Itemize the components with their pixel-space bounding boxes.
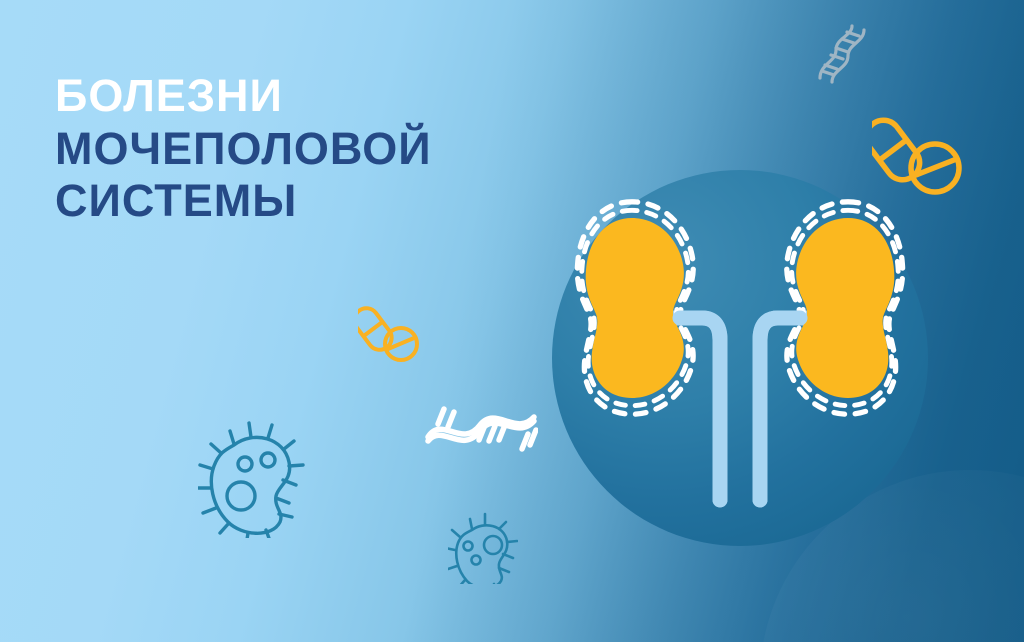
pills-icon [358, 298, 420, 364]
page-title: БОЛЕЗНИ МОЧЕПОЛОВОЙ СИСТЕМЫ [55, 74, 432, 223]
dna-helix-icon [814, 24, 870, 84]
dna-helix-icon [424, 383, 538, 469]
kidney-illustration [552, 170, 928, 546]
bacteria-icon [448, 512, 518, 584]
ureters-group [674, 318, 806, 500]
title-line-1: БОЛЕЗНИ [55, 74, 432, 118]
pills-icon [872, 103, 964, 198]
title-line-2: МОЧЕПОЛОВОЙ [55, 127, 432, 171]
bacteria-icon [198, 420, 312, 538]
title-line-3: СИСТЕМЫ [55, 179, 432, 223]
ureters-overlay [680, 318, 800, 500]
right-kidney [787, 202, 903, 414]
left-kidney [577, 202, 693, 414]
banner-root: БОЛЕЗНИ МОЧЕПОЛОВОЙ СИСТЕМЫ [0, 0, 1024, 642]
kidney-svg [552, 170, 928, 546]
